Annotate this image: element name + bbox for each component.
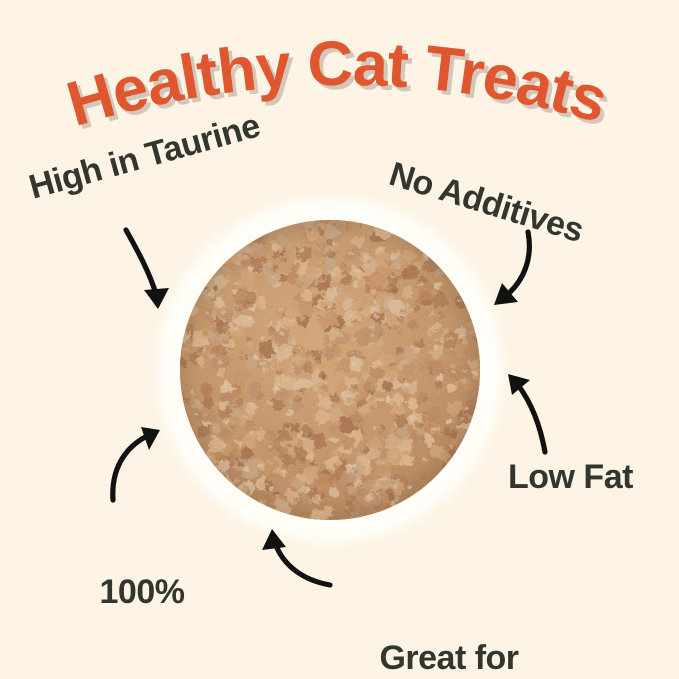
arrow-additives-icon	[494, 232, 529, 305]
arrow-turkey-icon	[113, 427, 160, 500]
arrow-lowfat-icon	[508, 374, 545, 452]
feature-label-100-percent-turkey: 100% Turkey	[62, 497, 222, 679]
product-image-ring	[163, 203, 497, 537]
feature-label-low-fat: Low Fat	[508, 458, 633, 496]
infographic-canvas: Healthy Cat Treats Healthy Cat Treats	[0, 0, 679, 679]
arrow-allergies-icon	[262, 529, 330, 585]
feature-label-allergies-line-1: Great for	[344, 639, 554, 677]
product-image	[180, 220, 480, 520]
arrow-taurine-icon	[126, 230, 169, 309]
feature-label-great-for-allergies: Great for Allergies	[344, 563, 554, 679]
feature-label-turkey-line-1: 100%	[62, 573, 222, 611]
page-title: Healthy Cat Treats Healthy Cat Treats	[0, 28, 679, 148]
